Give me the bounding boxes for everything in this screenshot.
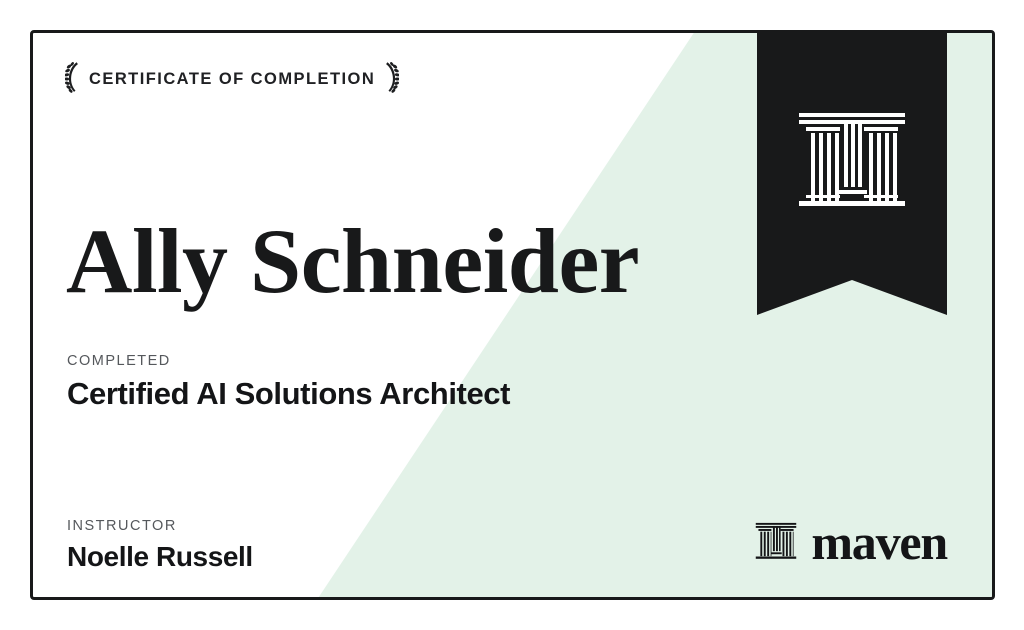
- maven-wordmark: maven: [811, 517, 947, 567]
- completed-label: COMPLETED: [67, 353, 510, 369]
- maven-columns-emblem: [797, 111, 907, 215]
- certificate-header: CERTIFICATE OF COMPLETION: [65, 61, 399, 97]
- certificate-screen: CERTIFICATE OF COMPLETION Ally Schneider: [0, 0, 1024, 630]
- completed-course-name: Certified AI Solutions Architect: [67, 376, 510, 412]
- completed-course-block: COMPLETED Certified AI Solutions Archite…: [67, 353, 510, 412]
- instructor-name: Noelle Russell: [67, 541, 253, 573]
- instructor-label: INSTRUCTOR: [67, 518, 253, 534]
- instructor-block: INSTRUCTOR Noelle Russell: [67, 518, 253, 573]
- recipient-name: Ally Schneider: [66, 215, 639, 307]
- maven-columns-emblem: [755, 521, 797, 563]
- ribbon-banner: [757, 33, 947, 315]
- laurel-branch-left-icon: [65, 61, 80, 97]
- maven-brand-lockup: maven: [755, 517, 947, 567]
- laurel-branch-right-icon: [384, 61, 399, 97]
- certificate-card: CERTIFICATE OF COMPLETION Ally Schneider: [30, 30, 995, 600]
- certificate-eyebrow-title: CERTIFICATE OF COMPLETION: [89, 70, 375, 89]
